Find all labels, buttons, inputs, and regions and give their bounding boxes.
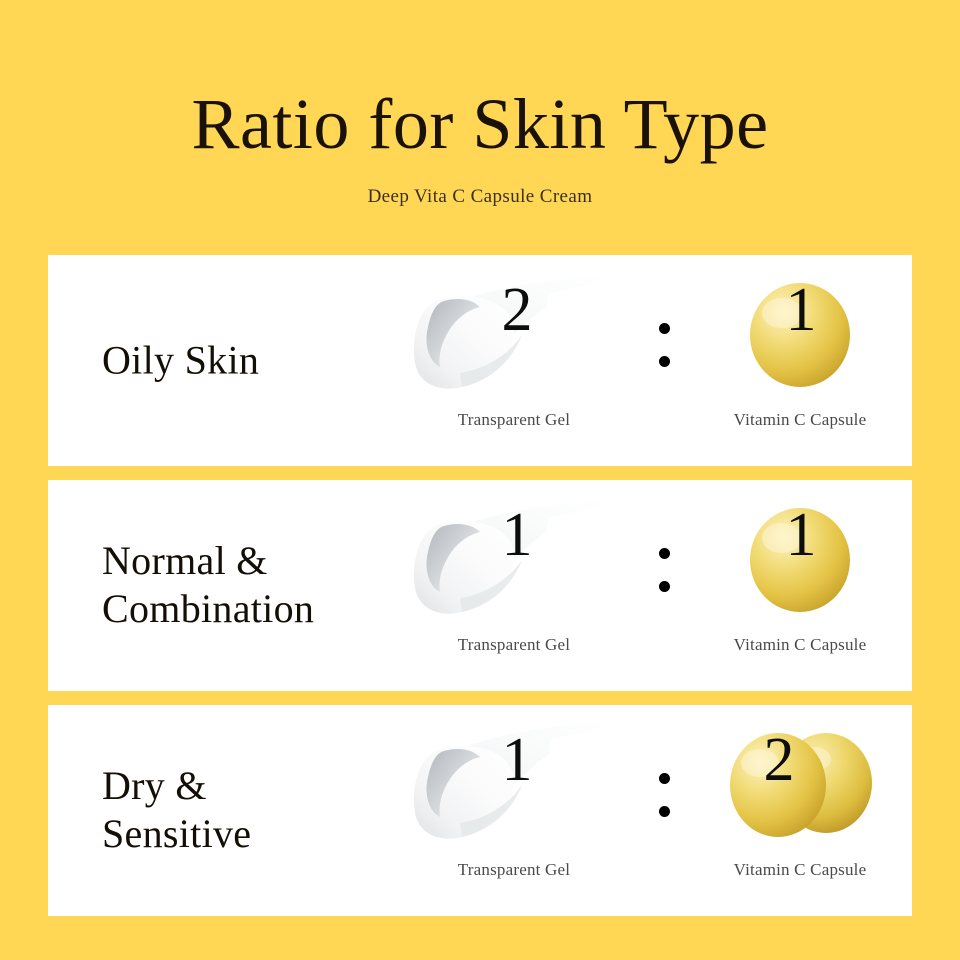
gel-label: Transparent Gel	[400, 410, 628, 430]
capsule-column: 1 Vitamin C Capsule	[686, 255, 914, 466]
page-title: Ratio for Skin Type	[0, 88, 960, 160]
colon-dot-top	[659, 773, 670, 784]
gel-label: Transparent Gel	[400, 860, 628, 880]
page-subtitle: Deep Vita C Capsule Cream	[0, 186, 960, 208]
gel-column: 2 Transparent Gel	[400, 255, 628, 466]
colon-dot-top	[659, 548, 670, 559]
ratio-card: Normal & Combination	[48, 480, 912, 691]
capsule-amount: 1	[686, 279, 914, 341]
skin-type-label: Normal & Combination	[102, 537, 314, 635]
capsule-amount: 2	[686, 729, 914, 791]
colon-dot-bottom	[659, 356, 670, 367]
gel-column: 1 Transparent Gel	[400, 705, 628, 916]
header: Ratio for Skin Type Deep Vita C Capsule …	[0, 0, 960, 208]
gel-amount: 1	[400, 729, 628, 791]
ratio-card-list: Oily Skin	[48, 255, 912, 916]
gel-amount: 2	[400, 279, 628, 341]
colon-dot-bottom	[659, 581, 670, 592]
ratio-separator	[642, 548, 686, 592]
ratio-card: Dry & Sensitive	[48, 705, 912, 916]
capsule-label: Vitamin C Capsule	[686, 635, 914, 655]
gel-label: Transparent Gel	[400, 635, 628, 655]
capsule-label: Vitamin C Capsule	[686, 860, 914, 880]
capsule-amount: 1	[686, 504, 914, 566]
capsule-label: Vitamin C Capsule	[686, 410, 914, 430]
ratio-separator	[642, 773, 686, 817]
gel-amount: 1	[400, 504, 628, 566]
colon-dot-bottom	[659, 806, 670, 817]
infographic-page: Ratio for Skin Type Deep Vita C Capsule …	[0, 0, 960, 960]
gel-column: 1 Transparent Gel	[400, 480, 628, 691]
ratio-separator	[642, 323, 686, 367]
skin-type-label: Dry & Sensitive	[102, 762, 251, 860]
capsule-column: 1 Vitamin C Capsule	[686, 480, 914, 691]
skin-type-label: Oily Skin	[102, 336, 259, 385]
ratio-card: Oily Skin	[48, 255, 912, 466]
capsule-column: 2 Vitamin C Capsule	[686, 705, 914, 916]
colon-dot-top	[659, 323, 670, 334]
